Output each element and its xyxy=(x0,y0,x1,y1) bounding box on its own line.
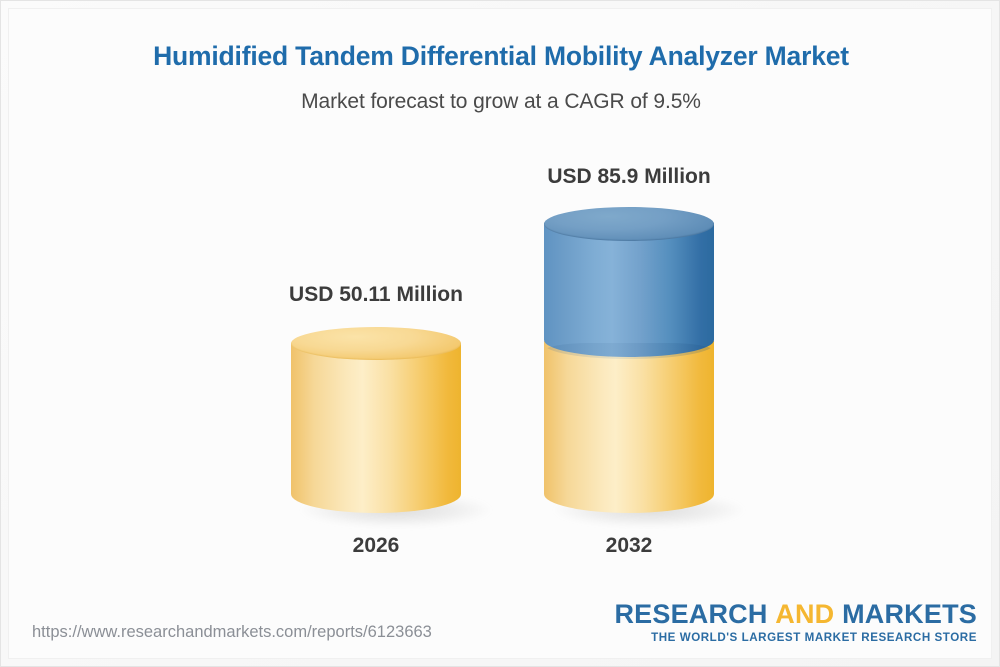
bar-2026-body xyxy=(291,343,461,513)
bar-2032-lower-body xyxy=(544,341,714,513)
brand-tagline: THE WORLD'S LARGEST MARKET RESEARCH STOR… xyxy=(614,632,977,644)
chart-subtitle: Market forecast to grow at a CAGR of 9.5… xyxy=(1,90,1000,114)
brand-word-research: RESEARCH xyxy=(614,599,767,629)
bar-2032-upper-body xyxy=(544,223,714,357)
chart-title: Humidified Tandem Differential Mobility … xyxy=(1,41,1000,72)
brand-logo[interactable]: RESEARCH AND MARKETS THE WORLD'S LARGEST… xyxy=(614,601,977,644)
bar-2032-top-cap xyxy=(544,207,714,241)
bar-2026-category-label: 2026 xyxy=(286,534,466,558)
source-url[interactable]: https://www.researchandmarkets.com/repor… xyxy=(32,623,432,642)
bar-2026[interactable] xyxy=(291,327,461,513)
bar-2026-value-label: USD 50.11 Million xyxy=(261,283,491,307)
brand-word-markets: MARKETS xyxy=(842,599,977,629)
bar-2026-top-cap xyxy=(291,327,461,360)
bar-2032[interactable] xyxy=(544,207,714,513)
chart-canvas: Humidified Tandem Differential Mobility … xyxy=(0,0,1000,667)
brand-word-and: AND xyxy=(775,599,834,629)
bar-2032-category-label: 2032 xyxy=(539,534,719,558)
brand-name: RESEARCH AND MARKETS xyxy=(614,601,977,628)
bar-2032-value-label: USD 85.9 Million xyxy=(519,165,739,189)
